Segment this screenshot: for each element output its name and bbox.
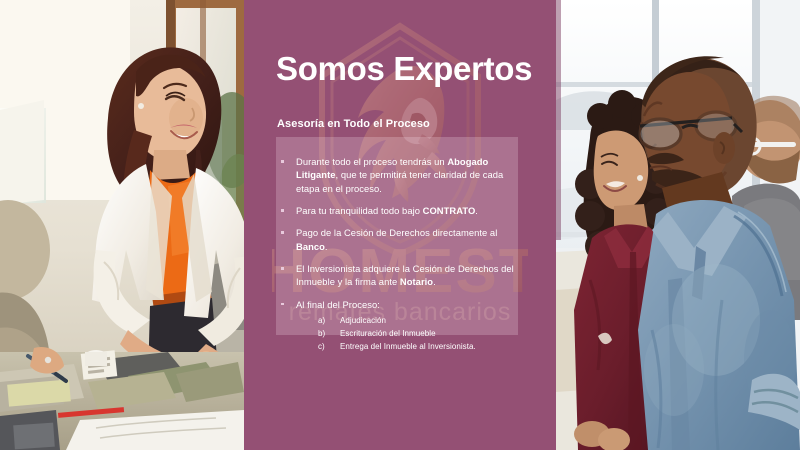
bullet-text: El Inversionista adquiere la Cesión de D…	[296, 263, 514, 287]
sublist-label: Escrituración del Inmueble	[340, 329, 436, 338]
bullet-emphasis: CONTRATO	[423, 205, 476, 216]
slide: HOMEST remates bancarios Somos Expertos …	[0, 0, 800, 450]
bullet-emphasis: Banco	[296, 241, 325, 252]
bullet-text: Para tu tranquilidad todo bajo CONTRATO.	[296, 205, 478, 216]
bullet-text-run: .	[325, 241, 328, 252]
bullet-item: El Inversionista adquiere la Cesión de D…	[278, 262, 526, 289]
bullet-text-run: .	[475, 205, 478, 216]
sublist-marker: c)	[318, 341, 325, 354]
bullet-text-run: Al final del Proceso:	[296, 299, 380, 310]
content-panel: HOMEST remates bancarios Somos Expertos …	[244, 0, 556, 450]
sublist-item: c)Entrega del Inmueble al Inversionista.	[296, 341, 526, 354]
photo-left	[0, 0, 244, 450]
sublist-item: a)Adjudicación	[296, 315, 526, 328]
bullet-text-run: Pago de la Cesión de Derechos directamen…	[296, 227, 497, 238]
bullet-text-run: Para tu tranquilidad todo bajo	[296, 205, 423, 216]
bullet-text: Pago de la Cesión de Derechos directamen…	[296, 227, 497, 251]
bullet-item: Pago de la Cesión de Derechos directamen…	[278, 226, 526, 253]
bullet-text: Durante todo el proceso tendrás un Aboga…	[296, 156, 503, 194]
sublist-marker: a)	[318, 315, 325, 328]
page-title: Somos Expertos	[276, 52, 546, 87]
sublist-label: Adjudicación	[340, 316, 386, 325]
photo-right	[556, 0, 800, 450]
bullet-text-run: .	[433, 276, 436, 287]
bullet-item: Durante todo el proceso tendrás un Aboga…	[278, 155, 526, 195]
bullet-item: Al final del Proceso:a)Adjudicaciónb)Esc…	[278, 298, 526, 354]
sublist-item: b)Escrituración del Inmueble	[296, 328, 526, 341]
sublist-marker: b)	[318, 328, 325, 341]
section-subtitle: Asesoría en Todo el Proceso	[277, 118, 430, 130]
bullet-text-run: Durante todo el proceso tendrás un	[296, 156, 447, 167]
bullet-item: Para tu tranquilidad todo bajo CONTRATO.	[278, 204, 526, 217]
bullet-text: Al final del Proceso:	[296, 299, 380, 310]
bullet-list: Durante todo el proceso tendrás un Aboga…	[278, 155, 526, 363]
bullet-sublist: a)Adjudicaciónb)Escrituración del Inmueb…	[296, 315, 526, 354]
sublist-label: Entrega del Inmueble al Inversionista.	[340, 342, 476, 351]
bullet-emphasis: Notario	[400, 276, 433, 287]
